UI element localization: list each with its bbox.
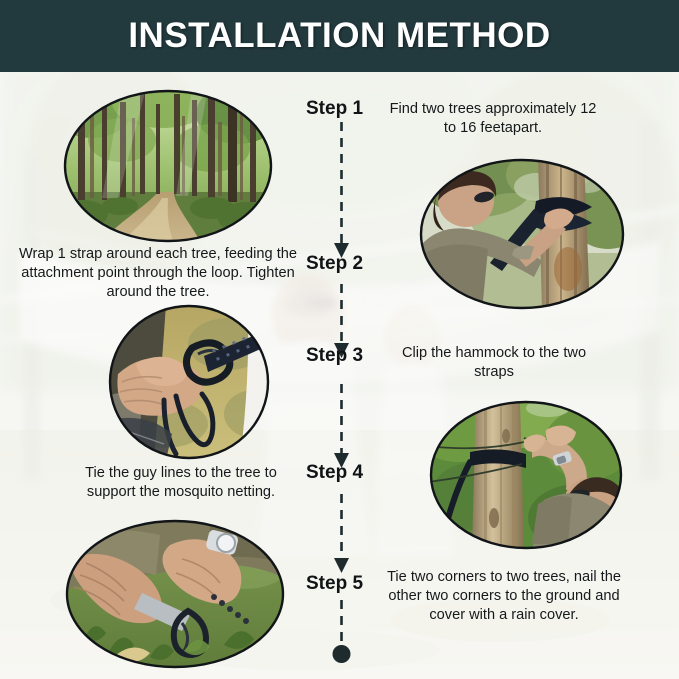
step-label-2: Step 2 <box>306 253 363 275</box>
page-title: INSTALLATION METHOD <box>128 16 550 56</box>
infographic-page: INSTALLATION METHOD Step 1 Find two tree… <box>0 0 679 679</box>
hands-staking-ground-photo <box>64 519 286 669</box>
step-label-1: Step 1 <box>306 98 363 120</box>
step-text-2: Wrap 1 strap around each tree, feeding t… <box>16 245 300 302</box>
header-bar: INSTALLATION METHOD <box>0 0 679 72</box>
step-label-3: Step 3 <box>306 345 363 367</box>
forest-trees-photo <box>62 88 274 244</box>
man-tying-guy-lines-photo <box>428 400 624 550</box>
step-text-3: Clip the hammock to the two straps <box>388 344 600 382</box>
step-text-4: Tie the guy lines to the tree to support… <box>62 464 300 502</box>
step-text-5: Tie two corners to two trees, nail the o… <box>380 568 628 625</box>
timeline-end-dot <box>333 645 351 663</box>
step-label-4: Step 4 <box>306 462 363 484</box>
step-text-1: Find two trees approximately 12 to 16 fe… <box>384 100 602 138</box>
timeline-arrow-4 <box>334 558 349 573</box>
hand-holding-carabiner-photo <box>108 304 270 460</box>
step-label-5: Step 5 <box>306 573 363 595</box>
man-wrapping-strap-photo <box>418 157 626 311</box>
